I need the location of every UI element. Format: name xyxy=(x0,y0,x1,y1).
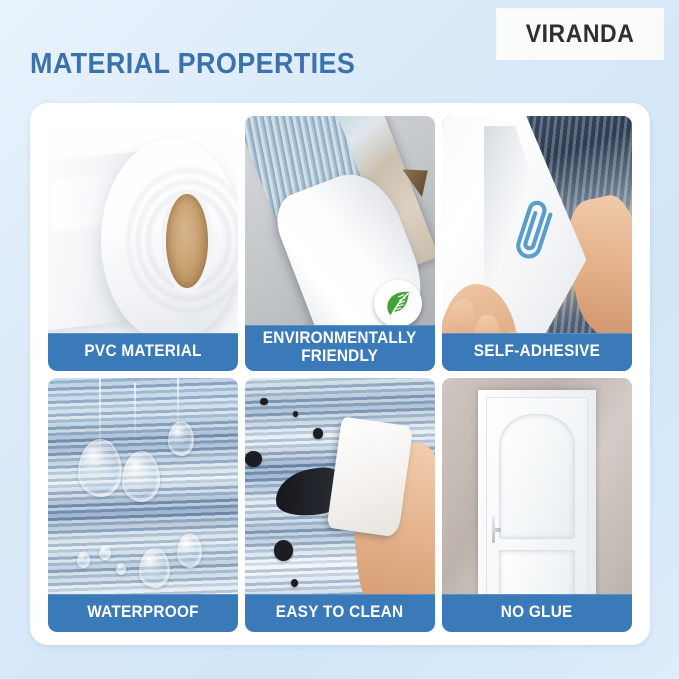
feature-label-text: SELF-ADHESIVE xyxy=(474,343,600,361)
stain-spot xyxy=(293,411,299,417)
water-droplet xyxy=(116,563,126,575)
water-droplet xyxy=(77,551,90,568)
feature-label-waterproof: WATERPROOF xyxy=(48,594,238,632)
feature-label-text: NO GLUE xyxy=(501,604,573,622)
stain-spot xyxy=(245,451,262,466)
features-panel: PVC MATERIAL xyxy=(30,103,650,645)
feature-card-self-adhesive[interactable]: SELF-ADHESIVE xyxy=(442,116,632,371)
brand-logo: VIRANDA xyxy=(497,9,663,59)
feature-label-text: WATERPROOF xyxy=(87,604,199,622)
door-leaf-shape xyxy=(486,397,587,622)
feature-label-easy-to-clean: EASY TO CLEAN xyxy=(245,594,435,632)
feature-card-no-glue[interactable]: NO GLUE xyxy=(442,378,632,633)
water-droplet xyxy=(99,545,111,560)
page-title: MATERIAL PROPERTIES xyxy=(30,48,355,81)
feature-label-text: EASY TO CLEAN xyxy=(276,604,404,622)
door-frame-shape xyxy=(478,390,596,624)
water-droplet xyxy=(139,548,170,588)
brand-logo-text: VIRANDA xyxy=(526,20,635,49)
water-droplet xyxy=(168,421,195,456)
door-panel-top xyxy=(499,414,574,539)
feature-card-easy-to-clean[interactable]: EASY TO CLEAN xyxy=(245,378,435,633)
stain-spot xyxy=(274,540,293,560)
feature-label-no-glue: NO GLUE xyxy=(442,594,632,632)
pvc-roll-shape xyxy=(101,139,238,343)
feature-card-waterproof[interactable]: WATERPROOF xyxy=(48,378,238,633)
pvc-highlight xyxy=(52,173,120,231)
feature-label-text-line2: FRIENDLY xyxy=(263,348,417,366)
feature-card-environmentally-friendly[interactable]: ENVIRONMENTALLY FRIENDLY xyxy=(245,116,435,371)
leaf-icon xyxy=(374,280,422,328)
water-droplet xyxy=(122,451,160,501)
feature-label-text: PVC MATERIAL xyxy=(84,343,201,361)
stain-spot xyxy=(313,428,323,438)
feature-label-text-line1: ENVIRONMENTALLY xyxy=(263,330,417,348)
infographic-page: VIRANDA MATERIAL PROPERTIES PVC MATERIAL xyxy=(0,0,679,679)
pvc-core-shape xyxy=(166,194,208,288)
feature-label-pvc-material: PVC MATERIAL xyxy=(48,333,238,371)
water-droplet xyxy=(177,533,202,568)
droplet-trail xyxy=(134,383,136,439)
features-grid: PVC MATERIAL xyxy=(48,116,632,632)
feature-label-environmentally-friendly: ENVIRONMENTALLY FRIENDLY xyxy=(245,325,435,371)
feature-card-pvc-material[interactable]: PVC MATERIAL xyxy=(48,116,238,371)
door-handle-icon xyxy=(489,516,499,543)
feature-label-self-adhesive: SELF-ADHESIVE xyxy=(442,333,632,371)
